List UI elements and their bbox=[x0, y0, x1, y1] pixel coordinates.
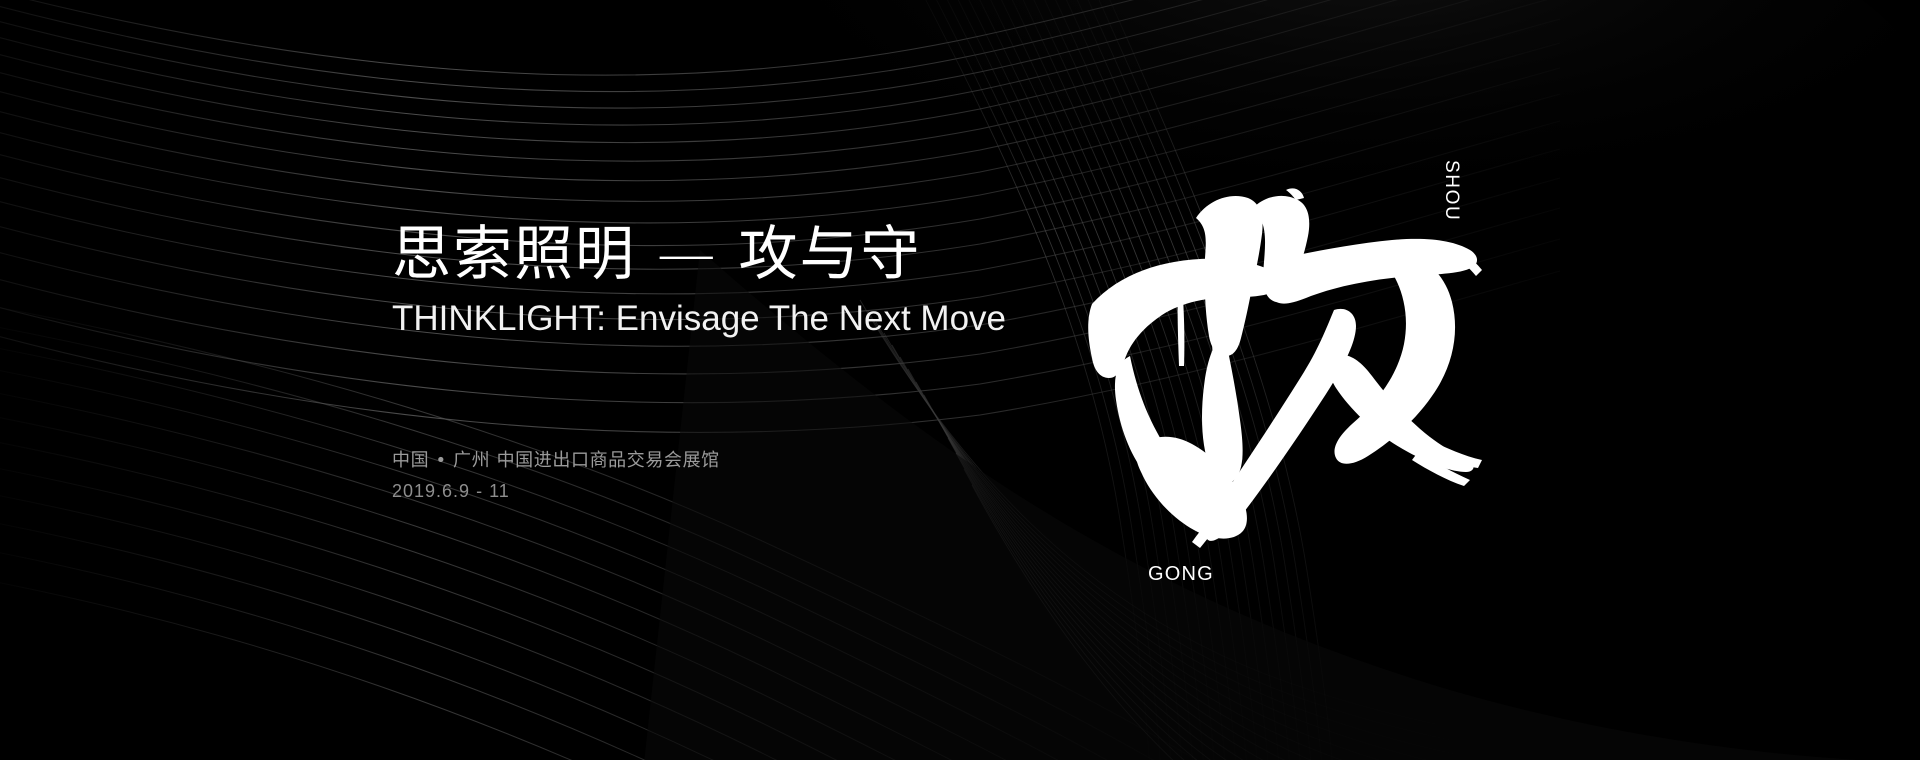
page-title-english: THINKLIGHT: Envisage The Next Move bbox=[392, 300, 1152, 339]
event-venue: 中国 • 广州 中国进出口商品交易会展馆 bbox=[392, 445, 1092, 476]
background-wave-pattern bbox=[0, 0, 1920, 760]
event-date: 2019.6.9 - 11 bbox=[392, 476, 1092, 507]
banner-canvas: 思索照明 — 攻与守 THINKLIGHT: Envisage The Next… bbox=[0, 0, 1920, 760]
calligraphy-character-gong bbox=[1078, 160, 1488, 560]
pinyin-label-gong: GONG bbox=[1148, 563, 1214, 586]
headline-block: 思索照明 — 攻与守 THINKLIGHT: Envisage The Next… bbox=[392, 222, 1152, 338]
pinyin-label-shou: SHOU bbox=[1440, 160, 1462, 221]
page-title-chinese: 思索照明 — 攻与守 bbox=[392, 222, 1152, 286]
calligraphy-svg bbox=[1078, 160, 1488, 560]
event-meta-block: 中国 • 广州 中国进出口商品交易会展馆 2019.6.9 - 11 bbox=[392, 445, 1092, 507]
